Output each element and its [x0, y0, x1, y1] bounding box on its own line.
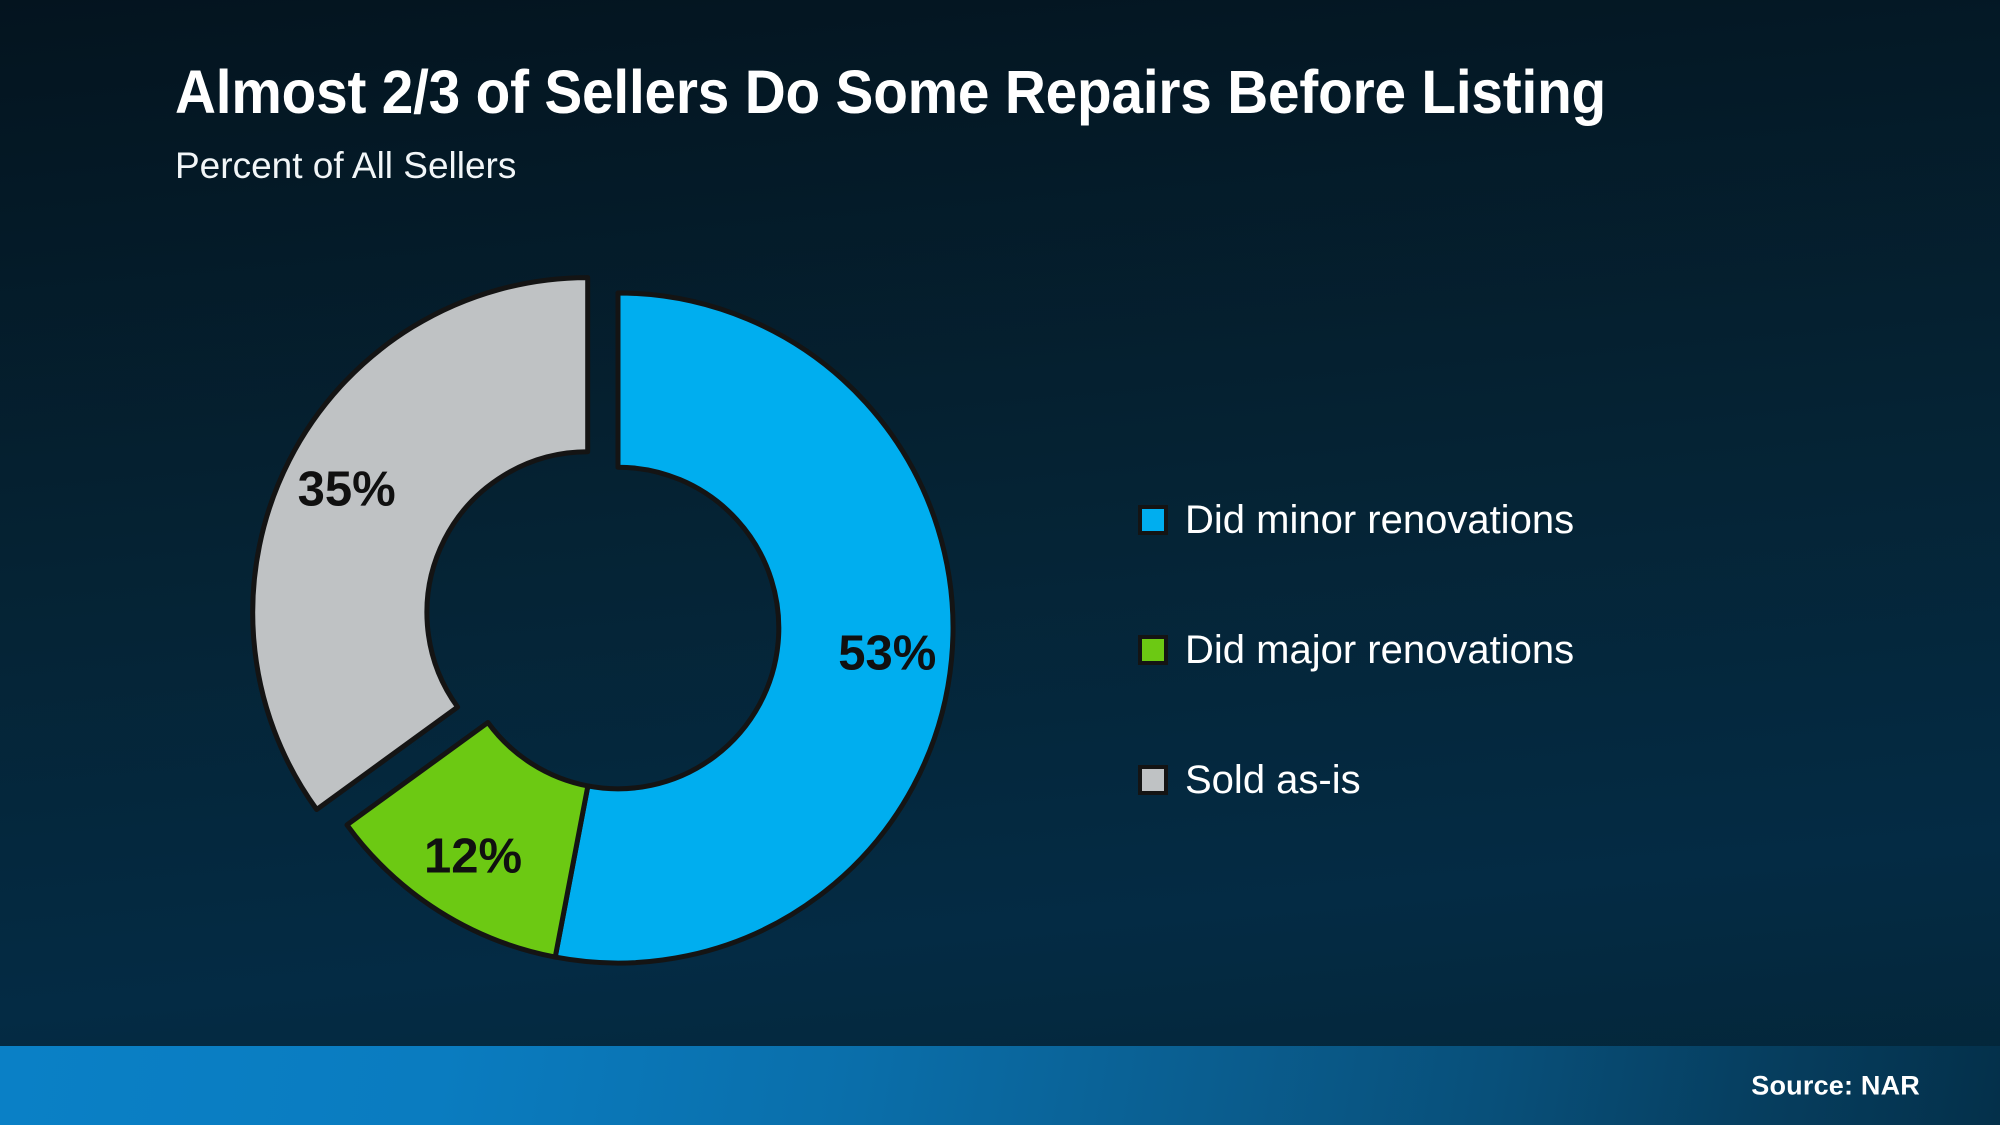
page-title: Almost 2/3 of Sellers Do Some Repairs Be…: [175, 60, 1756, 124]
legend-item[interactable]: Sold as-is: [1138, 715, 1778, 845]
chart-legend: Did minor renovationsDid major renovatio…: [1138, 455, 1778, 845]
legend-item-label: Did major renovations: [1185, 630, 1574, 670]
page-subtitle: Percent of All Sellers: [175, 146, 1875, 187]
donut-slice[interactable]: [253, 278, 588, 810]
donut-chart-svg: 53%12%35%: [210, 250, 1050, 1010]
donut-slice-value-label: 12%: [424, 829, 522, 883]
legend-swatch-icon: [1138, 765, 1168, 795]
donut-chart: 53%12%35%: [210, 250, 1050, 1010]
legend-swatch-icon: [1138, 505, 1168, 535]
legend-item-label: Sold as-is: [1185, 760, 1361, 800]
donut-slice-layer: [253, 278, 953, 963]
donut-slice-value-label: 35%: [298, 463, 396, 517]
legend-item-label: Did minor renovations: [1185, 500, 1574, 540]
donut-slice-value-label: 53%: [838, 626, 936, 680]
legend-item[interactable]: Did major renovations: [1138, 585, 1778, 715]
source-label: Source: NAR: [1751, 1070, 1920, 1101]
slide-canvas: Almost 2/3 of Sellers Do Some Repairs Be…: [0, 0, 2000, 1125]
legend-swatch-icon: [1138, 635, 1168, 665]
legend-item[interactable]: Did minor renovations: [1138, 455, 1778, 585]
heading-block: Almost 2/3 of Sellers Do Some Repairs Be…: [175, 60, 1875, 187]
footer-bar: Source: NAR: [0, 1046, 2000, 1125]
